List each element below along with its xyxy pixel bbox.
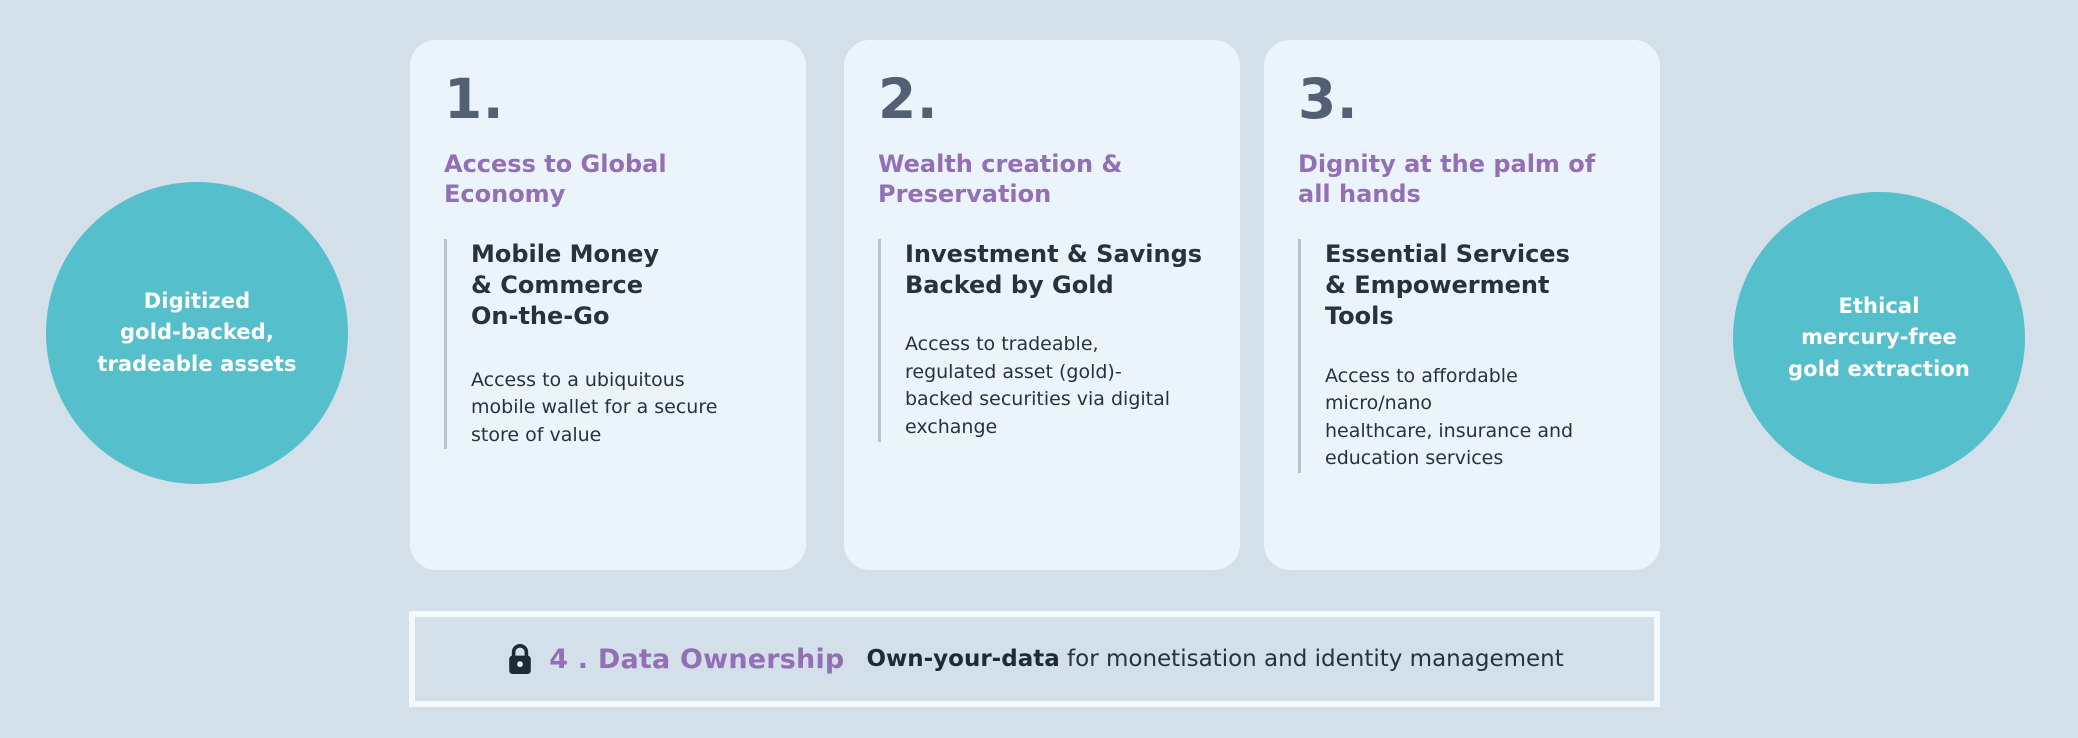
data-ownership-rest-text: for monetisation and identity management <box>1060 646 1564 672</box>
ethical-extraction-circle: Ethical mercury-free gold extraction <box>1733 192 2025 484</box>
data-ownership-bar-content: 4 . Data Ownership Own-your-data for mon… <box>505 642 1564 676</box>
pillar-card-1-title: Access to Global Economy <box>444 149 772 209</box>
pillar-card-1-number: 1. <box>444 72 772 127</box>
pillar-card-2-body: Investment & Savings Backed by Gold Acce… <box>878 239 1206 442</box>
pillar-card-3-body: Essential Services & Empowerment Tools A… <box>1298 239 1626 473</box>
digitized-gold-circle-text: Digitized gold-backed, tradeable assets <box>97 286 296 381</box>
pillar-card-1-subtitle: Mobile Money & Commerce On-the-Go <box>471 239 772 333</box>
data-ownership-label: 4 . Data Ownership <box>549 644 844 675</box>
pillar-card-1-description: Access to a ubiquitous mobile wallet for… <box>471 367 772 450</box>
data-ownership-bar[interactable]: 4 . Data Ownership Own-your-data for mon… <box>409 611 1660 707</box>
pillar-card-1[interactable]: 1. Access to Global Economy Mobile Money… <box>410 40 806 570</box>
ethical-extraction-circle-text: Ethical mercury-free gold extraction <box>1788 291 1970 386</box>
pillar-card-3-description: Access to affordable micro/nano healthca… <box>1325 363 1626 473</box>
pillar-card-3[interactable]: 3. Dignity at the palm of all hands Esse… <box>1264 40 1660 570</box>
pillar-card-3-number: 3. <box>1298 72 1626 127</box>
pillar-card-1-body: Mobile Money & Commerce On-the-Go Access… <box>444 239 772 449</box>
pillar-card-2-description: Access to tradeable, regulated asset (go… <box>905 331 1206 441</box>
pillar-card-2-number: 2. <box>878 72 1206 127</box>
pillar-card-2-title: Wealth creation & Preservation <box>878 149 1206 209</box>
pillar-card-3-title: Dignity at the palm of all hands <box>1298 149 1626 209</box>
pillar-card-2-subtitle: Investment & Savings Backed by Gold <box>905 239 1206 301</box>
data-ownership-strong-text: Own-your-data <box>866 646 1059 672</box>
lock-icon <box>505 642 535 676</box>
infographic-stage: Digitized gold-backed, tradeable assets … <box>0 0 2078 738</box>
pillar-card-3-subtitle: Essential Services & Empowerment Tools <box>1325 239 1626 333</box>
digitized-gold-circle: Digitized gold-backed, tradeable assets <box>46 182 348 484</box>
pillar-card-2[interactable]: 2. Wealth creation & Preservation Invest… <box>844 40 1240 570</box>
